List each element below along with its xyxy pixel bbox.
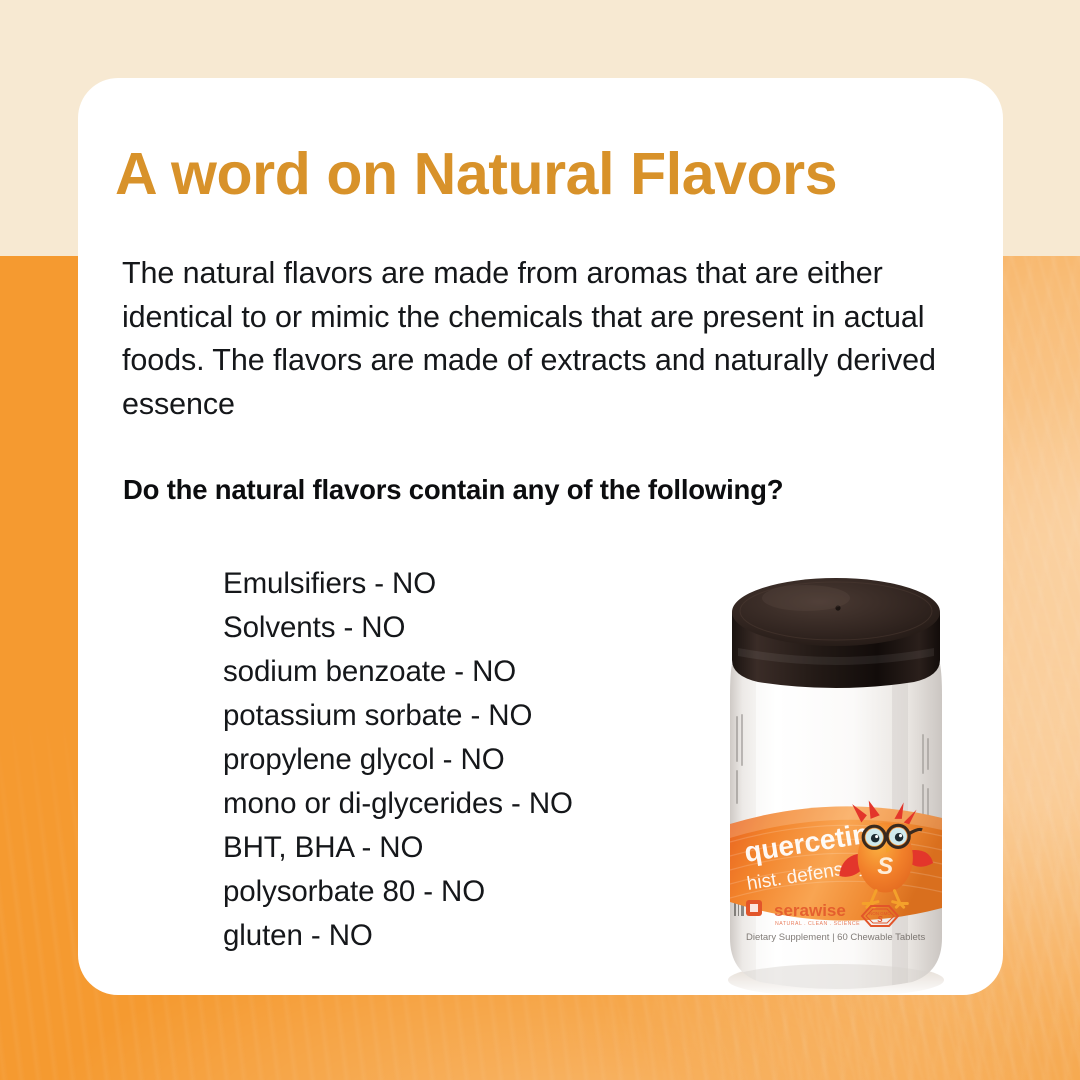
bottle-cap xyxy=(732,578,940,688)
label-brand-tagline: NATURAL . CLEAN . SCIENCE xyxy=(775,921,860,927)
content-card: A word on Natural Flavors The natural fl… xyxy=(78,78,1003,995)
list-item: Emulsifiers - NO xyxy=(223,562,693,606)
list-item: Solvents - NO xyxy=(223,606,693,650)
list-item: potassium sorbate - NO xyxy=(223,694,693,738)
owl-belly-letter: S xyxy=(877,853,893,880)
list-item: propylene glycol - NO xyxy=(223,738,693,782)
page-title: A word on Natural Flavors xyxy=(115,144,975,206)
list-item: sodium benzoate - NO xyxy=(223,650,693,694)
poster-canvas: A word on Natural Flavors The natural fl… xyxy=(0,0,1080,1080)
list-item: BHT, BHA - NO xyxy=(223,826,693,870)
list-item: polysorbate 80 - NO xyxy=(223,870,693,914)
svg-text:S: S xyxy=(877,915,883,924)
list-item: gluten - NO xyxy=(223,914,693,958)
intro-paragraph: The natural flavors are made from aromas… xyxy=(122,252,957,426)
product-bottle-image: quercetin hist. defense jr. xyxy=(686,556,986,996)
label-brand-name: serawise xyxy=(774,901,846,920)
bottle-body: quercetin hist. defense jr. xyxy=(716,656,956,996)
ingredients-list: Emulsifiers - NO Solvents - NO sodium be… xyxy=(223,562,693,958)
label-footer-text: Dietary Supplement | 60 Chewable Tablets xyxy=(746,932,925,943)
list-item: mono or di-glycerides - NO xyxy=(223,782,693,826)
question-heading: Do the natural flavors contain any of th… xyxy=(123,474,983,506)
